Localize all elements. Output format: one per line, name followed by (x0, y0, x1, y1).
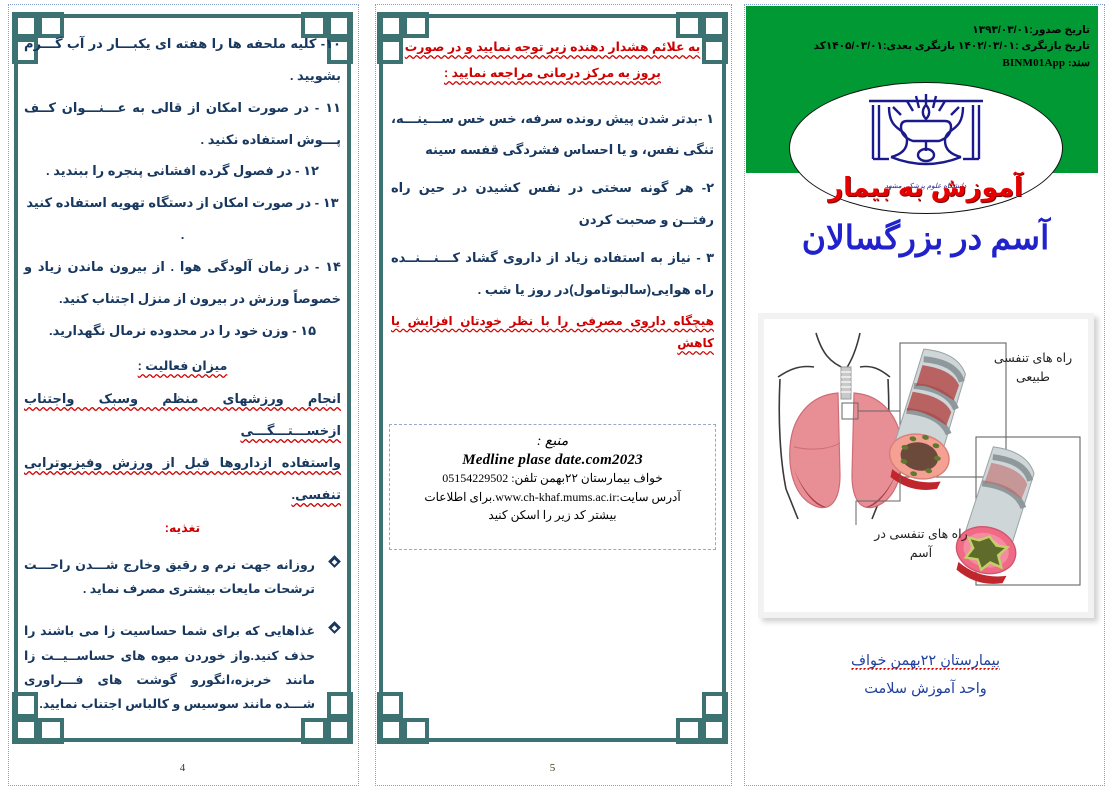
hospital-unit: واحد آموزش سلامت (740, 676, 1111, 704)
warning-heading-text: به علائم هشدار دهنده زیر توجه نمایید و د… (405, 40, 701, 80)
prevention-section: ۱۰- کلیه ملحفه ها را هفته ای یکبـــار در… (24, 28, 341, 735)
source-scan-note: بیشتر کد زیر را اسکن کنید (400, 506, 705, 525)
panel-page-4: ۱۰- کلیه ملحفه ها را هفته ای یکبـــار در… (0, 0, 365, 792)
panel-page-5: به علائم هشدار دهنده زیر توجه نمایید و د… (365, 0, 740, 792)
panel-cover: تاریخ صدور:۱۳۹۳/۰۳/۰۱ تاریخ بازنگری :۱۴۰… (740, 0, 1111, 792)
diamond-bullet-icon (328, 555, 341, 568)
prevention-item-12: ۱۲ - در فصول گرده افشانی پنجره را ببندید… (24, 155, 341, 187)
prevention-item-11: ۱۱ - در صورت امکان از قالی به عـــنـــوا… (24, 92, 341, 156)
page-number-5: 5 (365, 762, 740, 774)
source-label: منبع : (400, 433, 705, 450)
education-banner: آموزش به بیمار (828, 172, 1023, 203)
prevention-item-15: ۱۵ - وزن خود را در محدوده نرمال نگهدارید… (24, 315, 341, 347)
activity-text-2: واستفاده ازداروها قبل از ورزش وفیزیوتراب… (24, 455, 341, 502)
prevention-item-14: ۱۴ - در زمان آلودگی هوا . از بیرون ماندن… (24, 251, 341, 315)
warning-item-2: ۲- هر گونه سختی در نفس کشیدن در حین راه … (391, 172, 714, 236)
nutrition-bullet-1-text: روزانه جهت نرم و رقیق وخارج شـــدن راحــ… (24, 558, 315, 596)
lung-figure-box: راه های تنفسی طبیعی راه های تنفسی در آسم (758, 313, 1094, 618)
lung-figure: راه های تنفسی طبیعی راه های تنفسی در آسم (764, 319, 1088, 612)
prevention-item-10: ۱۰- کلیه ملحفه ها را هفته ای یکبـــار در… (24, 28, 341, 92)
medication-warning-note: هیچگاه داروی مصرفی را با نظر خودتان افزا… (391, 310, 714, 356)
warning-heading: به علائم هشدار دهنده زیر توجه نمایید و د… (391, 34, 714, 87)
medication-warning-text: هیچگاه داروی مصرفی را با نظر خودتان افزا… (391, 314, 714, 351)
review-date: تاریخ بازنگری :۱۴۰۲/۰۳/۰۱ بازنگری بعدی:۱… (830, 38, 1090, 54)
hospital-footer: بیمارستان ۲۲بهمن خواف واحد آموزش سلامت (740, 648, 1111, 703)
brochure-page: تاریخ صدور:۱۳۹۳/۰۳/۰۱ تاریخ بازنگری :۱۴۰… (0, 0, 1111, 792)
warning-item-1: ۱ -بدتر شدن پیش رونده سرفه، خس خس ســـین… (391, 103, 714, 167)
document-code: سند: BINM01App (830, 55, 1090, 72)
figure-label-asthma: راه های تنفسی در آسم (866, 525, 976, 563)
nutrition-bullet-2: غذاهایی که برای شما حساسیت زا می باشند ر… (24, 619, 341, 717)
hospital-name-text: بیمارستان ۲۲بهمن خواف (851, 653, 1000, 670)
warning-item-3: ۳ - نیاز به استفاده زیاد از داروی گشاد ک… (391, 242, 714, 306)
source-box: منبع : Medline plase date.com2023 خواف ب… (389, 424, 716, 550)
activity-text-line-2: واستفاده ازداروها قبل از ورزش وفیزیوتراب… (24, 447, 341, 511)
issue-date: تاریخ صدور:۱۳۹۳/۰۳/۰۱ (830, 22, 1090, 38)
activity-text-line-1: انجام ورزشهای منظم وسبک واجتناب ازخســـت… (24, 383, 341, 447)
source-reference: Medline plase date.com2023 (400, 452, 705, 469)
activity-text-1: انجام ورزشهای منظم وسبک واجتناب ازخســـت… (24, 391, 341, 438)
figure-label-normal: راه های تنفسی طبیعی (984, 349, 1082, 387)
hospital-name: بیمارستان ۲۲بهمن خواف (740, 648, 1111, 676)
nutrition-heading: تغذیه: (24, 517, 341, 541)
nutrition-bullet-2-text: غذاهایی که برای شما حساسیت زا می باشند ر… (24, 624, 315, 711)
activity-heading: میزان فعالیت : (24, 358, 341, 373)
nutrition-bullet-list: روزانه جهت نرم و رقیق وخارج شـــدن راحــ… (24, 553, 341, 717)
mums-emblem-icon (851, 87, 1001, 184)
diamond-bullet-icon (328, 621, 341, 634)
activity-heading-text: میزان فعالیت : (138, 359, 228, 373)
nutrition-bullet-1: روزانه جهت نرم و رقیق وخارج شـــدن راحــ… (24, 553, 341, 602)
source-website: آدرس سایت:www.ch-khaf.mums.ac.ir.برای اط… (400, 488, 705, 507)
source-phone: خواف بیمارستان ۲۲بهمن تلفن: 05154229502 (400, 469, 705, 488)
prevention-item-13: ۱۳ - در صورت امکان از دستگاه تهویه استفا… (24, 187, 341, 251)
warning-section: به علائم هشدار دهنده زیر توجه نمایید و د… (391, 34, 714, 355)
page-title: آسم در بزرگسالان (740, 218, 1111, 258)
document-meta: تاریخ صدور:۱۳۹۳/۰۳/۰۱ تاریخ بازنگری :۱۴۰… (830, 22, 1090, 72)
page-number-4: 4 (0, 762, 365, 774)
